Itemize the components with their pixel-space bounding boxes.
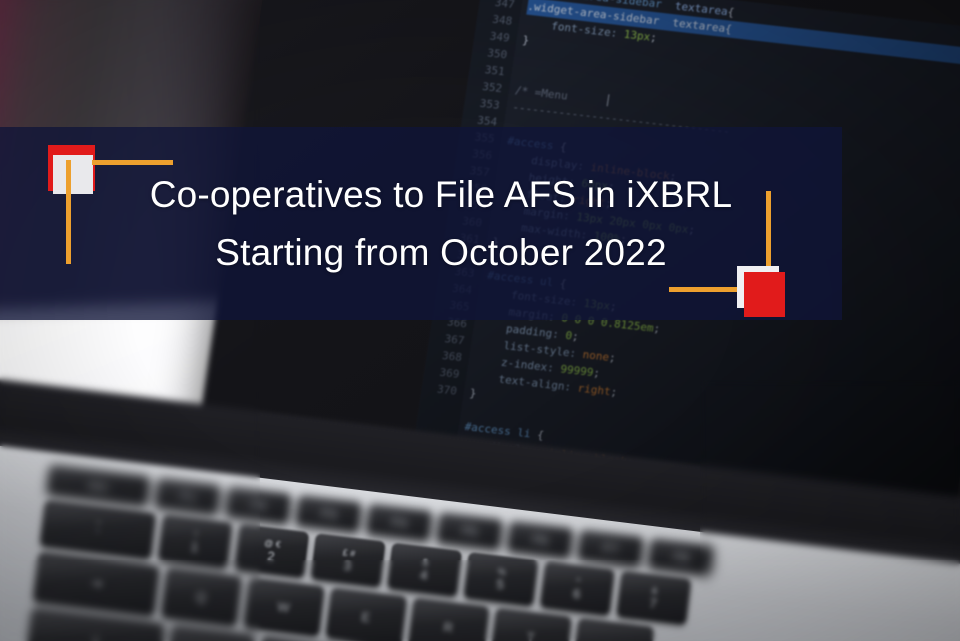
key-tab[interactable]: ⇥	[33, 551, 160, 615]
key-bottom-label: `	[94, 527, 101, 543]
key-t[interactable]: T	[490, 608, 572, 641]
key-label: F5	[462, 522, 479, 539]
key-q[interactable]: Q	[160, 567, 242, 626]
key-label: ⇥	[90, 575, 103, 592]
key-top-label: %	[497, 566, 506, 577]
key-bottom-label: 3	[340, 557, 354, 573]
key-7[interactable]: &7	[616, 571, 691, 625]
key-4[interactable]: $4	[387, 542, 462, 596]
key-f8[interactable]: F8	[648, 538, 715, 576]
key-label: F6	[532, 531, 549, 548]
key-label: F2	[250, 496, 267, 513]
key-backtick[interactable]: ~`	[40, 500, 157, 559]
key-label: T	[526, 629, 536, 641]
decor-left-vertical-line	[66, 160, 71, 264]
key-3[interactable]: £ #3	[311, 533, 386, 587]
key-top-label: ~	[96, 517, 102, 528]
decor-right-vertical-line	[766, 191, 771, 275]
key-label: F3	[321, 505, 338, 522]
key-w[interactable]: W	[243, 577, 325, 636]
key-label: F7	[602, 540, 619, 557]
key-label: E	[361, 609, 371, 625]
banner-image: 3463473483493503513523533543553563573583…	[0, 0, 960, 641]
key-label: esc	[88, 476, 110, 493]
key-f3[interactable]: F3	[295, 495, 362, 533]
key-label: W	[277, 598, 291, 614]
decor-left-white-square	[53, 155, 93, 194]
decor-right-red-square	[744, 272, 785, 317]
key-top-label: $	[421, 557, 429, 568]
key-label: F4	[391, 514, 408, 531]
photograph: 3463473483493503513523533543553563573583…	[0, 0, 960, 641]
key-f2[interactable]: F2	[225, 486, 292, 524]
key-label: F8	[673, 548, 690, 565]
key-1[interactable]: !1	[158, 514, 233, 568]
key-6[interactable]: ^6	[540, 561, 615, 615]
key-f6[interactable]: F6	[507, 521, 574, 559]
key-bottom-label: 5	[495, 576, 505, 592]
key-label: F1	[180, 488, 197, 505]
banner-title-line-2: Starting from October 2022	[215, 225, 666, 281]
key-top-label: &	[651, 585, 659, 596]
decor-left-horizontal-line	[92, 160, 173, 165]
editor-line-number: 370	[421, 379, 458, 400]
key-r[interactable]: R	[408, 597, 490, 641]
key-label: ⇪	[89, 633, 102, 641]
key-label: R	[443, 619, 454, 635]
banner-title-line-1: Co-operatives to File AFS in iXBRL	[150, 167, 733, 223]
key-f7[interactable]: F7	[577, 529, 644, 567]
key-2[interactable]: @ €2	[234, 524, 309, 578]
key-bottom-label: 4	[419, 567, 428, 583]
key-e[interactable]: E	[325, 587, 407, 641]
key-bottom-label: 6	[572, 585, 581, 601]
key-5[interactable]: %5	[463, 552, 538, 606]
key-f1[interactable]: F1	[155, 477, 222, 515]
key-f4[interactable]: F4	[366, 503, 433, 541]
key-bottom-label: 7	[649, 595, 658, 611]
key-top-label: @ €	[264, 537, 282, 549]
key-label: Q	[195, 588, 207, 604]
key-top-label: ^	[574, 575, 582, 586]
key-y[interactable]: Y	[572, 618, 654, 641]
key-bottom-label: 1	[190, 538, 199, 554]
key-f5[interactable]: F5	[436, 512, 503, 550]
key-bottom-label: 2	[262, 547, 280, 564]
